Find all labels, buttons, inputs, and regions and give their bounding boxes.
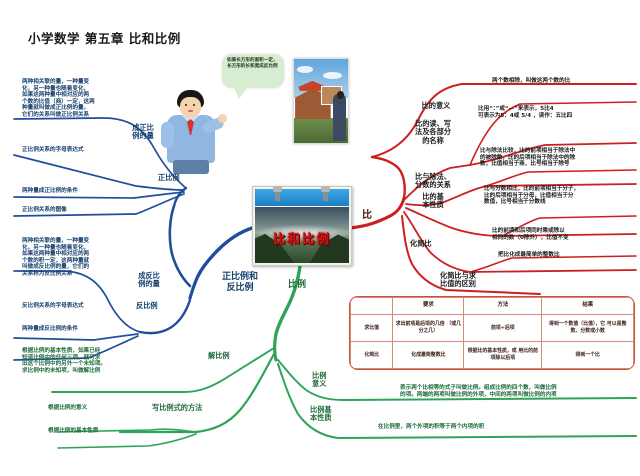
table-cell-result-simplify: 得到一个比 — [542, 342, 634, 369]
node-ratio-basic-property[interactable]: 比的基 本性质 — [404, 193, 462, 210]
table-row-head-simplify: 化简比 — [351, 342, 393, 369]
node-inverse-condition: 两种量成反比例的条件 — [22, 326, 78, 333]
comparison-table: 要求 方法 结果 求比值 求出前项是后项的几倍 （或几分之几） 前项÷后项 得到… — [349, 296, 635, 370]
page-title: 小学数学 第五章 比和比例 — [28, 32, 181, 47]
table-cell-result-find-value: 得到一个数值（比值），它 可以是整数、分数或小数 — [542, 315, 634, 342]
node-write-proportion-method[interactable]: 写比例式的方法 — [152, 404, 202, 412]
branch-label-ratio[interactable]: 比 — [362, 210, 372, 222]
detail-ratio-notation: 比用“：”或“—”来表示，5比4 可表示为5：4或 5/4 ，读作：五比四 — [478, 106, 572, 119]
speech-bubble-text: 如果长方形的面积一定，长方形的长和宽成反比例 — [227, 58, 280, 70]
detail-direct-quantity: 两种相关联的量，一种量变 化，另一种量也随着变化， 如果这两种量中相对应的两 个… — [22, 79, 95, 119]
node-ratio-division-fraction[interactable]: 比与除法、 分数的关系 — [398, 173, 468, 190]
detail-ratio-fraction: 比与分数相比，比的前项相当于分子， 比的后项相当于分母，比值相当于分 数值，比号… — [484, 186, 579, 206]
central-topic-node[interactable]: 比和比例 — [252, 186, 352, 266]
branch-label-proportion[interactable]: 比例 — [288, 280, 306, 291]
node-ratio-notation[interactable]: 比的读、写 法及各部分 的名称 — [400, 120, 466, 145]
node-simplify-vs-value[interactable]: 化简比与求 比值的区别 — [440, 272, 476, 289]
table-row-head-find-value: 求比值 — [351, 315, 393, 342]
table-header-blank — [351, 298, 393, 315]
table-cell-method-find-value: 前项÷后项 — [464, 315, 542, 342]
node-proportion-basic-property[interactable]: 比例基 本性质 — [310, 406, 332, 423]
detail-solve-proportion: 根据比例的基本性质，如果已经 知道比例中的任何三项，就可求 出这个比例中的另外一… — [22, 348, 106, 374]
table-header-result: 结果 — [542, 298, 634, 315]
node-direct-formula: 正比例关系的字母表达式 — [22, 147, 84, 154]
table-row: 求比值 求出前项是后项的几倍 （或几分之几） 前项÷后项 得到一个数值（比值），… — [351, 315, 634, 342]
node-ratio-meaning[interactable]: 比的意义 — [406, 102, 466, 110]
node-simplify-ratio[interactable]: 化简比 — [410, 240, 432, 248]
node-inverse-proportion[interactable]: 反比例 — [136, 302, 158, 310]
tiananmen-photo — [293, 58, 349, 144]
table-header-method: 方法 — [464, 298, 542, 315]
detail-ratio-meaning: 两个数相除，叫做这两个数的比 — [492, 78, 570, 85]
detail-ratio-basic-property: 比的前项和后项同时乘或除以 相同的数（0除外），比值不变 — [492, 228, 569, 241]
table-header-requirement: 要求 — [393, 298, 464, 315]
table-cell-requirement-simplify: 化成最简整数比 — [393, 342, 464, 369]
node-direct-condition: 两种量成正比例的条件 — [22, 188, 78, 195]
detail-proportion-basic-property: 在比例里，两个外项的积等于两个内项的积 — [378, 424, 484, 431]
mindmap-canvas: 小学数学 第五章 比和比例 如果长方形的面积一定，长方形的长和宽成反比例 比和比… — [0, 0, 640, 476]
detail-inverse-quantity: 两种相关联的量，一种量变 化，另一种量也随着变化， 如果这两种量中相对应的两 个… — [22, 238, 89, 278]
branch-label-direct-inverse[interactable]: 正比例和 反比例 — [206, 272, 274, 293]
detail-ratio-division: 比与除法比较，比的前项相当于除法中 的被除数，比的后项相当于除法中的除 数，比值… — [480, 148, 575, 168]
node-direct-graph: 正比例关系的图像 — [22, 207, 67, 214]
speech-bubble-tail — [234, 87, 248, 99]
table-cell-requirement-find-value: 求出前项是后项的几倍 （或几分之几） — [393, 315, 464, 342]
node-by-meaning: 根据比例的意义 — [48, 405, 87, 412]
node-direct-proportion[interactable]: 正比例 — [158, 174, 180, 182]
node-direct-quantity[interactable]: 成正比 例的量 — [122, 124, 164, 141]
table-header-row: 要求 方法 结果 — [351, 298, 634, 315]
node-by-basic-property: 根据比例的基本性质 — [48, 428, 98, 435]
table-cell-method-simplify: 根据比的基本性质，或 用比的前项除以后项 — [464, 342, 542, 369]
node-inverse-formula: 反比例关系的字母表达式 — [22, 303, 84, 310]
student-illustration — [155, 88, 227, 174]
detail-proportion-meaning: 表示两个比相等的式子叫做比例。组成比例的四个数，叫做比例 的项。两端的两项叫做比… — [400, 385, 557, 398]
central-topic-label: 比和比例 — [253, 228, 351, 247]
node-proportion-meaning[interactable]: 比例 意义 — [312, 372, 326, 389]
node-inverse-quantity[interactable]: 成反比 例的量 — [128, 272, 170, 289]
detail-simplify-ratio: 把比化成最简单的整数比 — [498, 252, 560, 259]
node-solve-proportion[interactable]: 解比例 — [208, 352, 230, 360]
table-row: 化简比 化成最简整数比 根据比的基本性质，或 用比的前项除以后项 得到一个比 — [351, 342, 634, 369]
speech-bubble: 如果长方形的面积一定，长方形的长和宽成反比例 — [222, 54, 284, 88]
